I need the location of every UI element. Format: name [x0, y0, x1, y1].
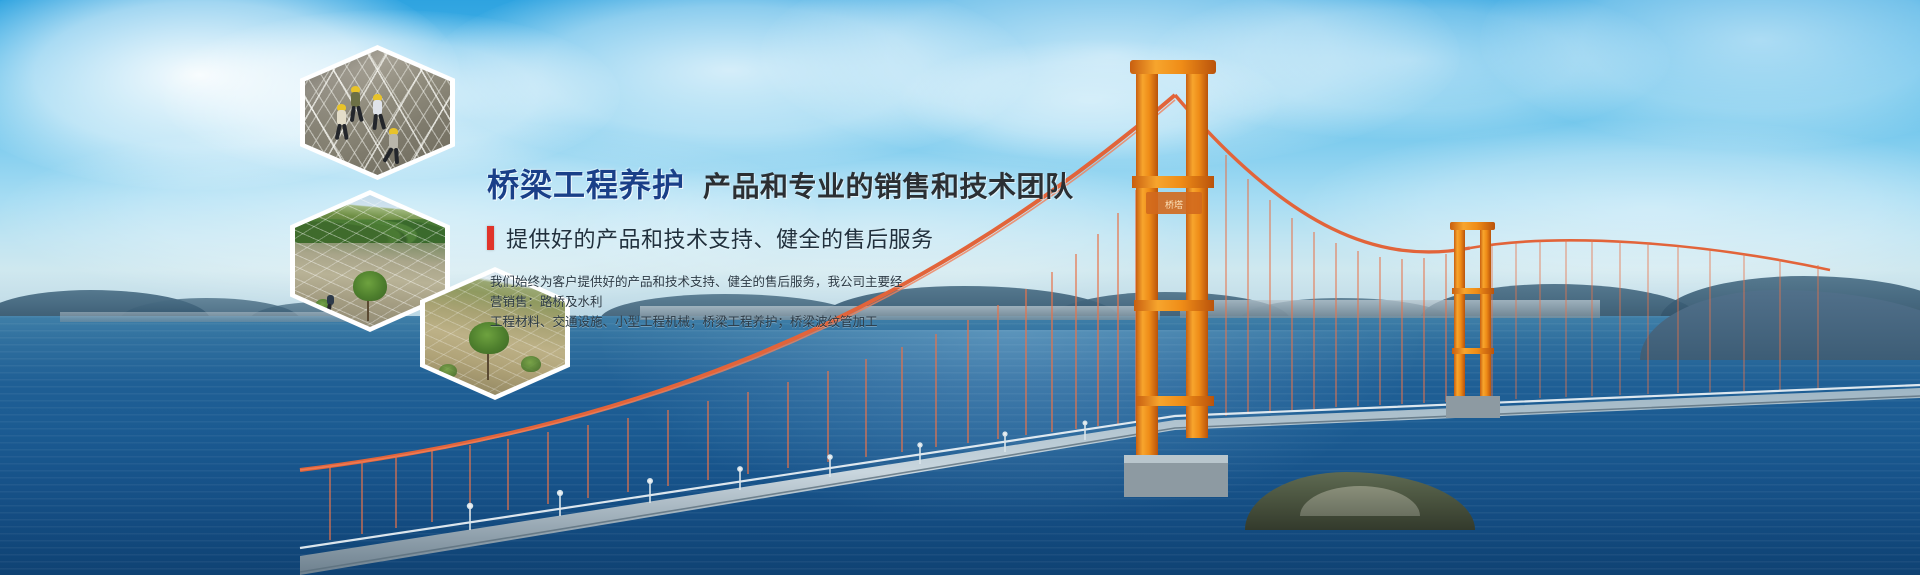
tree-shape — [353, 271, 387, 301]
body-line: 工程材料、交通设施、小型工程机械；桥梁工程养护；桥梁波纹管加工 — [490, 312, 910, 332]
bush-shape — [439, 364, 457, 378]
hero-banner: 桥塔 — [0, 0, 1920, 575]
banner-copy-block: 桥梁工程养护 产品和专业的销售和技术团队 提供好的产品和技术支持、健全的售后服务… — [487, 160, 1247, 332]
subheadline-text: 提供好的产品和技术支持、健全的售后服务 — [506, 222, 934, 254]
banner-body-text: 我们始终为客户提供好的产品和技术支持、健全的售后服务，我公司主要经营销售：路桥及… — [490, 272, 910, 332]
headline-secondary-text: 产品和专业的销售和技术团队 — [703, 165, 1074, 205]
body-line: 我们始终为客户提供好的产品和技术支持、健全的售后服务，我公司主要经营销售：路桥及… — [490, 272, 910, 312]
bridge-deck — [300, 388, 1920, 575]
headline-main-text: 桥梁工程养护 — [487, 160, 685, 206]
hex-photo-rockfall-netting[interactable] — [300, 45, 455, 180]
bush-shape — [521, 356, 541, 372]
accent-bar — [487, 226, 494, 250]
banner-subheadline: 提供好的产品和技术支持、健全的售后服务 — [487, 222, 1247, 254]
banner-headline: 桥梁工程养护 产品和专业的销售和技术团队 — [487, 160, 1247, 206]
